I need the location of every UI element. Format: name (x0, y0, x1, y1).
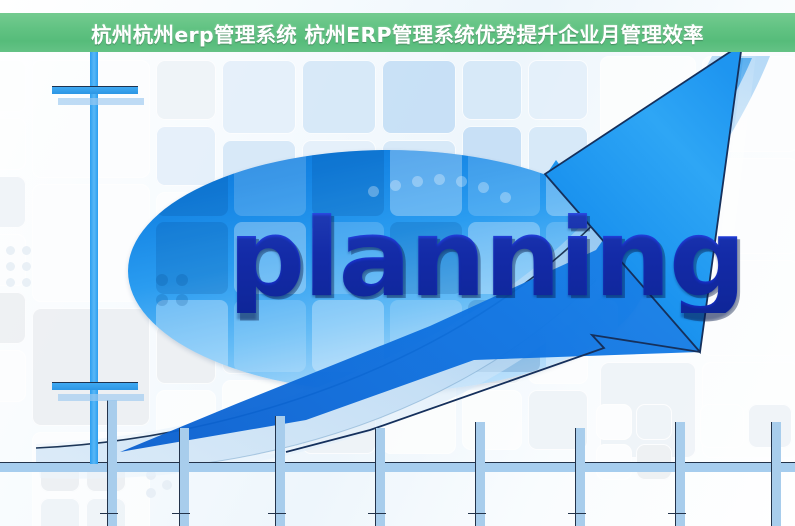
wordmark-planning: planning (228, 205, 744, 313)
title-banner: 杭州杭州erp管理系统 杭州ERP管理系统优势提升企业月管理效率 (0, 13, 795, 52)
banner-image: planning planning 杭州杭州erp管理系统 杭州ERP管理系统优… (0, 0, 795, 526)
banner-title-text: 杭州杭州erp管理系统 杭州ERP管理系统优势提升企业月管理效率 (91, 18, 704, 48)
